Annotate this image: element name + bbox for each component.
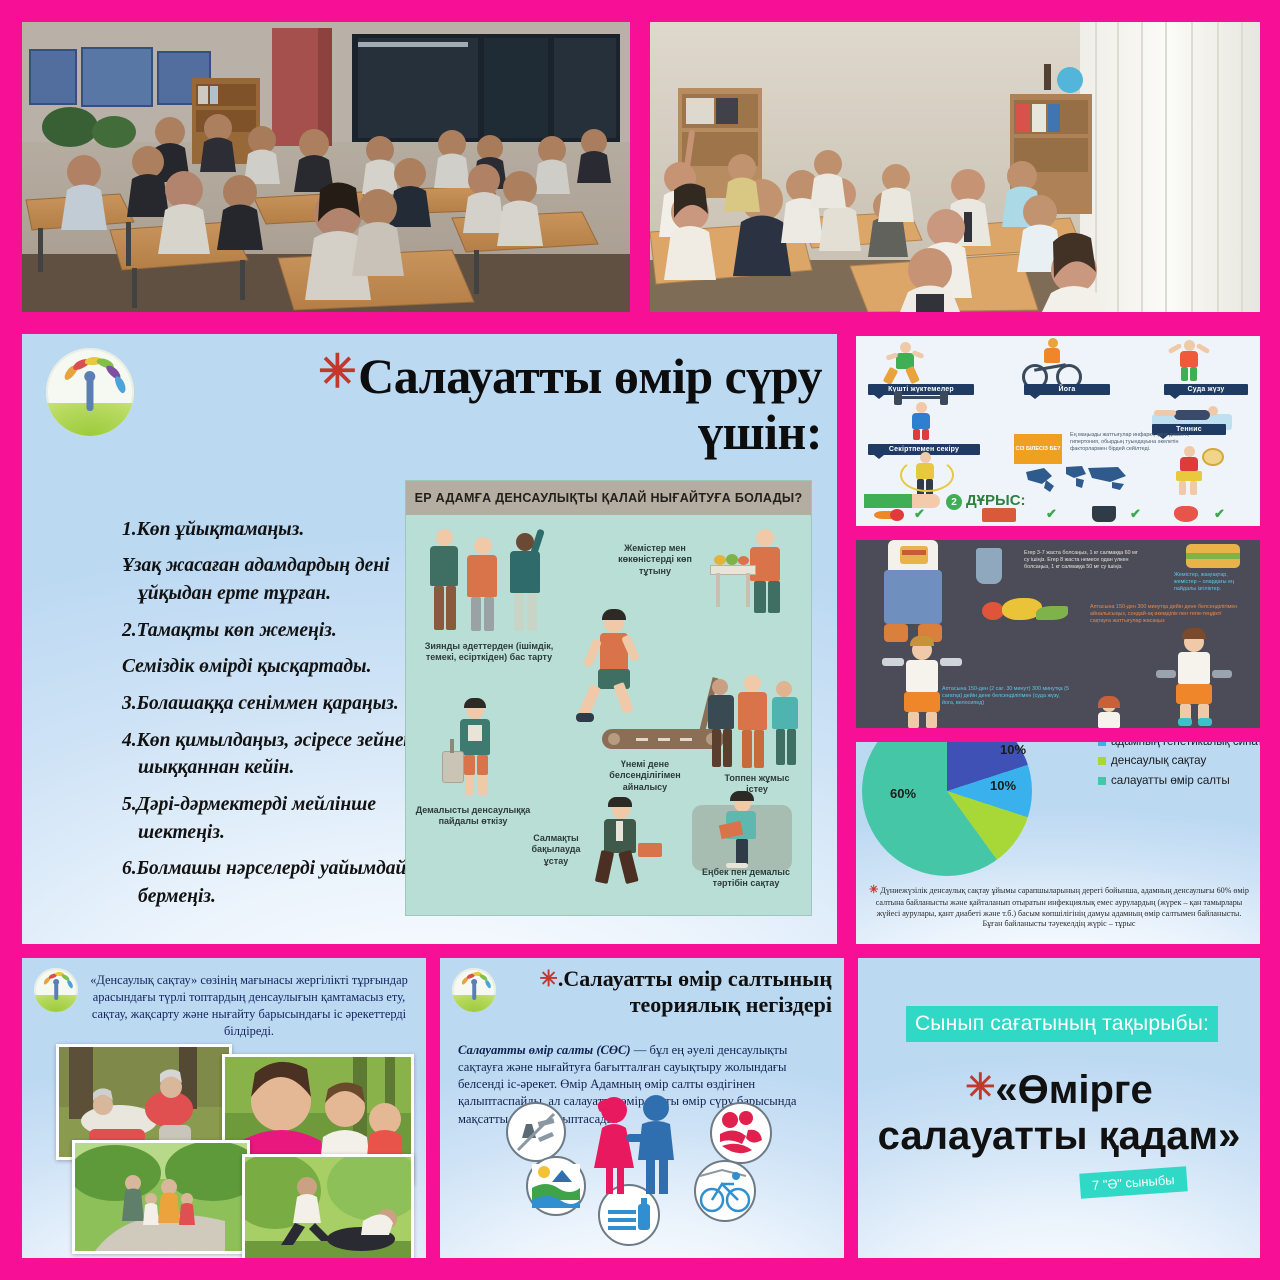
star-icon: ✳ [539, 966, 557, 991]
figure-jumprope [900, 452, 950, 498]
pie-label-60: 60% [890, 786, 916, 801]
logo-person-body [54, 983, 58, 1000]
legend-item: салауатты өмір салты [1098, 774, 1260, 788]
slide-class-hour-topic: Сынып сағатының тақырыбы: ✳«Өмірге салау… [858, 958, 1260, 1258]
heart-icon [1174, 506, 1198, 522]
chart-note-text: Дүниежүзілік денсаулық сақтау ұйымы сара… [876, 886, 1249, 928]
healthy-lifestyle-icon-cluster [482, 1098, 802, 1248]
chart-legend: және климаттық жағдайлар адамның генетик… [1058, 742, 1260, 793]
sports-infographic-panel: Күшті жүктемелер Йога Суда жүзу [856, 336, 1260, 526]
legend-item: денсаулық сақтау [1098, 754, 1260, 768]
page-title: ✳.Салауатты өмір салтының теориялық негі… [532, 966, 832, 1018]
check-icon: ✔ [1214, 506, 1225, 522]
section-number-badge: 2 [946, 494, 962, 510]
sandwich-icon [1186, 544, 1240, 568]
mens-health-infographic: ЕР АДАМҒА ДЕНСАУЛЫҚТЫ ҚАЛАЙ НЫҒАЙТУҒА БО… [405, 480, 812, 916]
figure-cyclist [1020, 338, 1082, 386]
health-tree-person-logo [34, 968, 78, 1012]
nutrition-activity-infographic-panel: Егер 3-7 жаста болсаңыз, 1 кг салмаққа 6… [856, 540, 1260, 728]
figure-businessman [578, 799, 674, 883]
water-glass-icon [976, 548, 1002, 584]
class-hour-title-line2: салауатты қадам» [878, 1114, 1241, 1158]
list-item: 3.Болашаққа сеніммен қараңыз. [122, 690, 442, 718]
infographic-caption: Еңбек пен демалыс тәртібін сақтау [692, 867, 800, 890]
star-icon: ✳ [318, 346, 356, 397]
infographic-caption: Жемістер мен көкөністерді көп тұтыну [612, 543, 698, 577]
logo-leaf [66, 979, 74, 989]
figure-dumbbell-press [882, 636, 962, 728]
health-tree-person-logo [452, 968, 496, 1012]
figure-weightlifter [892, 394, 950, 440]
page-title-line2: үшін: [698, 404, 822, 460]
cycling-icon [694, 1160, 756, 1222]
star-icon: ✳ [965, 1066, 995, 1107]
list-item: 2.Тамақты көп жемеңіз. [122, 617, 442, 645]
slide-theoretical-basis: ✳.Салауатты өмір салтының теориялық негі… [440, 958, 844, 1258]
figure-running [574, 609, 664, 719]
infographic-caption: Салмақты бақылауда ұстау [522, 833, 590, 867]
healthy-food-icon [710, 1102, 772, 1164]
figure-team-group [710, 675, 802, 771]
page-title-text: .Салауатты өмір салтының теориялық негіз… [558, 966, 832, 1017]
photo-couple-exercising [242, 1154, 414, 1258]
rules-list: 1.Көп ұйықтамаңыз. Ұзақ жасаған адамдард… [82, 516, 442, 920]
pie-chart-graphic [862, 742, 1032, 876]
photo-classroom-left [22, 22, 630, 312]
world-map-icon [1022, 464, 1132, 492]
health-factors-chart-panel: 60% 20% 10% 10% және климаттық жағдайлар… [856, 742, 1260, 944]
page-title-line1: Салауатты өмір сүру [358, 348, 822, 404]
slide-health-definition: «Денсаулық сақтау» сөзінің мағынасы жерг… [22, 958, 426, 1258]
photo-classroom-right [650, 22, 1260, 312]
topic-ribbon: Сынып сағатының тақырыбы: [906, 1006, 1218, 1042]
fruits-icon [982, 598, 1072, 626]
chart-note: ✳ Дүниежүзілік денсаулық сақтау ұйымы са… [866, 883, 1252, 930]
photo-family-walking [72, 1140, 250, 1254]
figure-reading [692, 793, 792, 875]
figure-tennis [1168, 446, 1224, 496]
sport-label: Йога [1024, 384, 1110, 395]
classroom-illustration-left [22, 22, 630, 312]
legend-item: адамның генетикалық сипаты [1098, 742, 1260, 749]
sport-label: Суда жүзу [1164, 384, 1248, 395]
legend-swatch [1098, 742, 1106, 746]
list-item: 6.Болмашы нәрселерді уайымдай бермеңіз. [122, 855, 442, 910]
did-you-know-badge: СІЗ БІЛЕСІЗ БЕ? [1014, 434, 1062, 464]
list-item: 5.Дәрі-дәрмектерді мейлінше шектеңіз. [122, 791, 442, 846]
check-icon: ✔ [1046, 506, 1057, 522]
legend-swatch [1098, 777, 1106, 785]
photo-collage [42, 1044, 412, 1244]
page-title: ✳Салауатты өмір сүру үшін: [172, 346, 822, 460]
figure-running-green [880, 342, 934, 384]
class-hour-title-line1: «Өмірге [995, 1068, 1152, 1112]
gym-icon [982, 508, 1016, 522]
definition-lead: Салауатты өмір салты (СӨС) [458, 1043, 631, 1057]
pie-label-10a: 10% [1000, 742, 1026, 757]
figure-yoga-woman [1086, 698, 1132, 728]
scale-icon [1092, 506, 1116, 522]
class-hour-title: ✳«Өмірге салауатты қадам» [868, 1066, 1250, 1160]
slide-healthy-living-rules: ✳Салауатты өмір сүру үшін: 1.Көп ұйықтам… [22, 334, 837, 944]
nature-environment-icon [526, 1156, 586, 1216]
infographic-header: ЕР АДАМҒА ДЕНСАУЛЫҚТЫ ҚАЛАЙ НЫҒАЙТУҒА БО… [406, 481, 811, 515]
infographic-blurb: Ең маңызды жаттығулар инфаркт, қант диаб… [1070, 432, 1190, 453]
infographic-blurb: Егер 3-7 жаста болсаңыз, 1 кг салмаққа 6… [1024, 550, 1142, 571]
infographic-blurb: Жемістер, жаңғақтар, жемістер – олардағы… [1174, 572, 1250, 593]
logo-person-body [86, 378, 93, 411]
pie-chart: 60% 20% 10% 10% және климаттық жағдайлар… [862, 742, 1052, 886]
no-alcohol-no-smoking-no-drugs-icon [506, 1102, 566, 1162]
list-item: 4.Көп қимылдаңыз, әсіресе зейнетке шыққа… [122, 727, 442, 782]
health-tree-person-logo [46, 348, 134, 436]
check-icon: ✔ [914, 506, 925, 522]
legend-swatch [1098, 757, 1106, 765]
check-icon: ✔ [1130, 506, 1141, 522]
green-bar [864, 494, 912, 508]
logo-leaf [113, 375, 127, 394]
class-badge: 7 "Ә" сыныбы [1079, 1166, 1187, 1198]
collage-board: ✳Салауатты өмір сүру үшін: 1.Көп ұйықтам… [0, 0, 1280, 1280]
list-item: Ұзақ жасаған адамдардың дені ұйқыдан ерт… [122, 552, 442, 607]
pie-label-10b: 10% [990, 778, 1016, 793]
star-icon: ✳ [869, 884, 878, 896]
figure-drinking-trio [428, 527, 558, 637]
infographic-body: Зиянды әдеттерден (ішімдік, темекі, есір… [406, 515, 811, 915]
list-item: 1.Көп ұйықтамаңыз. [122, 516, 442, 544]
infographic-caption: Зиянды әдеттерден (ішімдік, темекі, есір… [414, 641, 564, 664]
infographic-blurb: Аптасына 150-ден 300 минутқа дейін дене … [1090, 604, 1240, 625]
figure-swimmer-stand [1164, 340, 1214, 382]
figure-dumbbell-curl [1156, 630, 1232, 726]
infographic-caption: Үнемі дене белсенділігімен айналысу [590, 759, 700, 793]
figure-eating-vegetables [706, 529, 796, 619]
infographic-caption: Демалысты денсаулыққа пайдалы өткізу [414, 805, 532, 828]
vegetables-icon [874, 508, 910, 522]
section-title: ДҰРЫС: [966, 492, 1026, 509]
classroom-illustration-right [650, 22, 1260, 312]
couple-man-woman-icon [580, 1094, 690, 1198]
figure-traveller [442, 701, 522, 801]
logo-leaf [484, 979, 492, 989]
logo-person-body [472, 983, 476, 1000]
list-item: Семіздік өмірді қысқартады. [122, 653, 442, 681]
health-definition-text: «Денсаулық сақтау» сөзінің мағынасы жерг… [80, 972, 418, 1040]
infographic-blurb: Аптасына 150-ден (2 сағ. 30 минут) 300 м… [942, 686, 1070, 707]
